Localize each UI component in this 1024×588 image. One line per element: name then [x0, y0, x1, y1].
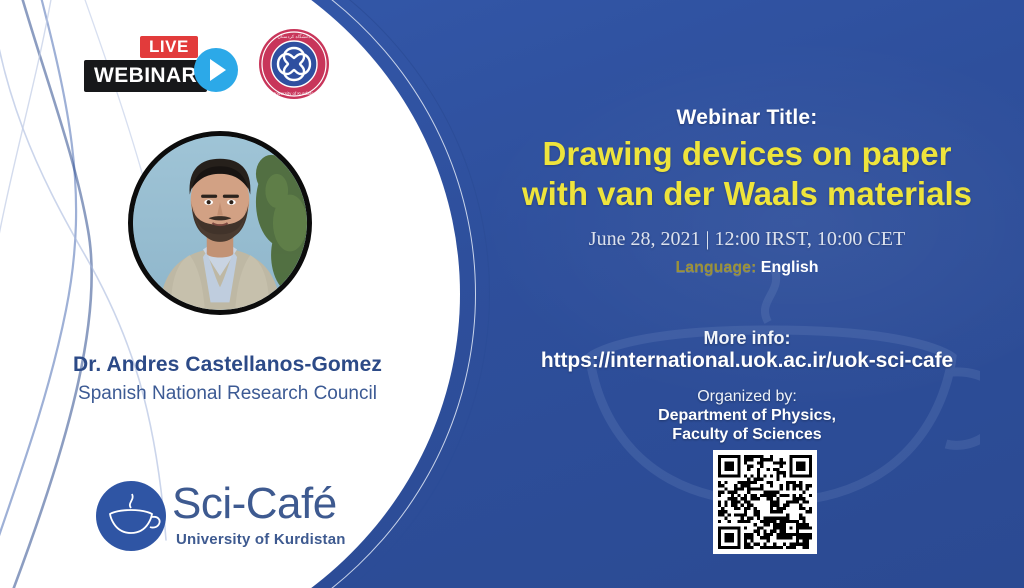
language-label: Language: [675, 259, 756, 276]
qr-code[interactable] [713, 450, 817, 554]
sci-cafe-logo: Sci-Café University of Kurdistan [96, 477, 346, 557]
webinar-title-line2: with van der Waals materials [470, 174, 1024, 214]
organizer-label: Organized by: [470, 388, 1024, 406]
live-label: LIVE [140, 36, 198, 58]
university-of-kurdistan-emblem-icon: دانشگاه کردستان University of Kurdistan [258, 28, 330, 100]
language-value: English [761, 259, 819, 276]
play-icon [194, 48, 238, 92]
more-info-url[interactable]: https://international.uok.ac.ir/uok-sci-… [470, 349, 1024, 373]
language-line: Language: English [470, 259, 1024, 277]
webinar-title: Drawing devices on paper with van der Wa… [470, 134, 1024, 215]
sci-cafe-subtitle: University of Kurdistan [176, 531, 346, 548]
speaker-name: Dr. Andres Castellanos-Gomez [0, 353, 455, 377]
webinar-poster: LIVE WEBINAR دانشگاه کردستان University … [0, 0, 1024, 588]
webinar-label-badge: WEBINAR [84, 60, 207, 92]
svg-text:دانشگاه کردستان: دانشگاه کردستان [277, 33, 310, 40]
webinar-title-line1: Drawing devices on paper [470, 134, 1024, 174]
organizer-line1: Department of Physics, [470, 407, 1024, 425]
webinar-title-label: Webinar Title: [470, 106, 1024, 130]
webinar-datetime: June 28, 2021 | 12:00 IRST, 10:00 CET [470, 228, 1024, 251]
speaker-affiliation: Spanish National Research Council [0, 383, 455, 405]
more-info-label: More info: [470, 328, 1024, 349]
coffee-cup-icon [96, 481, 166, 551]
live-webinar-badge: LIVE WEBINAR [84, 36, 234, 94]
sci-cafe-wordmark: Sci-Café [172, 482, 337, 526]
svg-text:University of Kurdistan: University of Kurdistan [272, 91, 316, 96]
organizer-line2: Faculty of Sciences [470, 426, 1024, 444]
speaker-portrait-photo [128, 131, 312, 315]
